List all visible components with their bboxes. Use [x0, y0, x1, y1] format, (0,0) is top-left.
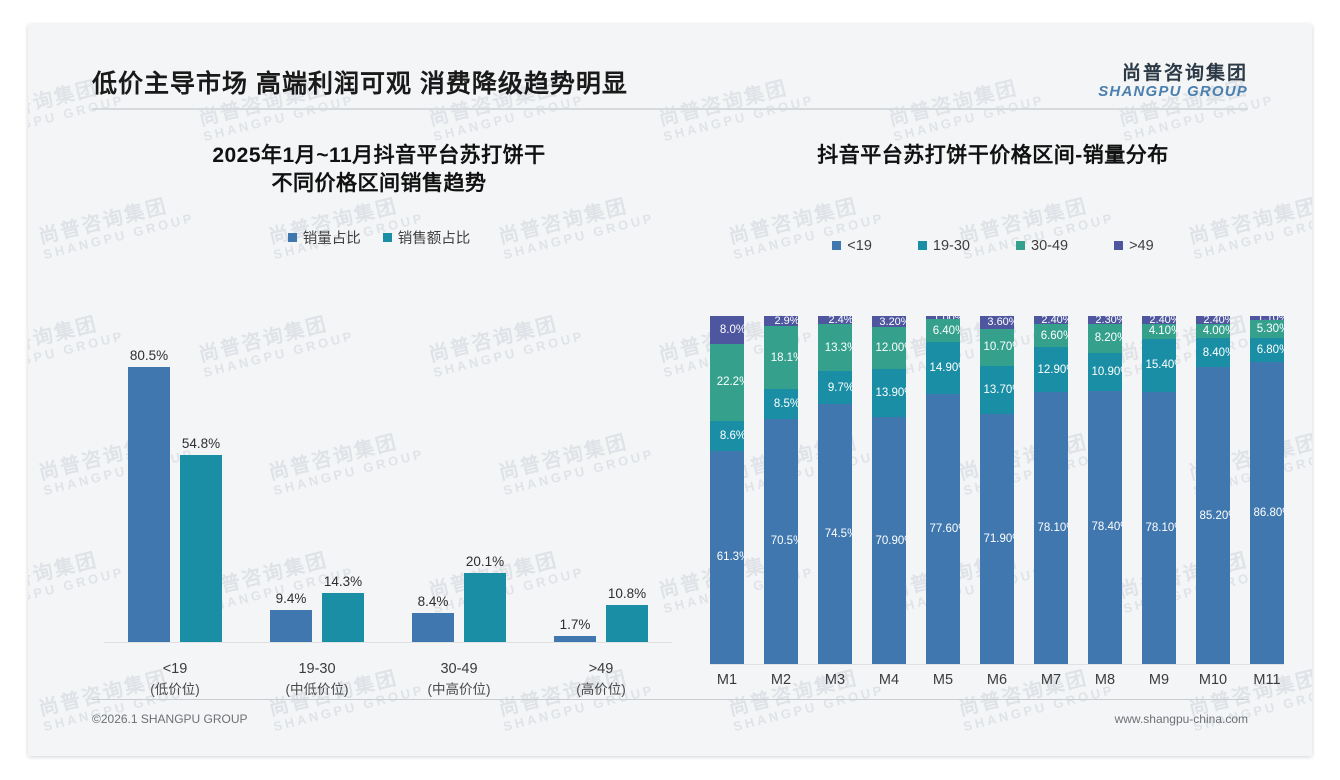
slide-canvas: 尚普咨询集团SHANGPU GROUP尚普咨询集团SHANGPU GROUP尚普…	[28, 24, 1312, 756]
stacked-bar-segment[interactable]: 13.70%	[980, 366, 1014, 414]
segment-value-label: 2.4%	[828, 316, 852, 324]
x-axis-tick-label: >49(高价位)	[526, 658, 676, 701]
right-legend-item[interactable]: 30-49	[1016, 238, 1068, 254]
right-chart-plot-area: 8.0%22.2%8.6%61.3%2.9%18.1%8.5%70.5%2.4%…	[710, 316, 1284, 664]
bar-value-label: 80.5%	[130, 348, 168, 363]
stacked-bar-segment[interactable]: 3.60%	[980, 316, 1014, 329]
segment-value-label: 61.3%	[717, 551, 744, 563]
right-chart-panel: 抖音平台苏打饼干价格区间-销量分布 <1919-3030-49>49 8.0%2…	[688, 120, 1298, 690]
legend-label: <19	[847, 238, 872, 254]
right-legend-item[interactable]: <19	[832, 238, 872, 254]
legend-label: 30-49	[1031, 238, 1068, 254]
segment-value-label: 12.00%	[876, 342, 907, 354]
x-axis-tick-label: 30-49(中高价位)	[384, 658, 534, 701]
right-legend-item[interactable]: >49	[1114, 238, 1154, 254]
logo-english-text: SHANGPU GROUP	[1098, 84, 1248, 100]
x-axis-tick-label: M10	[1196, 672, 1230, 696]
stacked-bar[interactable]: 1.00%6.40%14.90%77.60%	[926, 316, 960, 664]
stacked-bar-segment[interactable]: 2.30%	[1088, 316, 1122, 324]
stacked-bar-segment[interactable]: 12.90%	[1034, 347, 1068, 392]
segment-value-label: 6.80%	[1257, 344, 1284, 356]
stacked-bar-segment[interactable]: 78.10%	[1142, 392, 1176, 664]
slide-header: 低价主导市场 高端利润可观 消费降级趋势明显 尚普咨询集团 SHANGPU GR…	[28, 24, 1312, 110]
legend-swatch-icon	[918, 241, 927, 250]
segment-value-label: 14.90%	[930, 362, 961, 374]
segment-value-label: 8.40%	[1203, 347, 1230, 359]
segment-value-label: 13.70%	[984, 384, 1015, 396]
right-chart-x-axis-labels: M1M2M3M4M5M6M7M8M9M10M11	[710, 672, 1284, 696]
stacked-bar-segment[interactable]: 2.4%	[818, 316, 852, 324]
bar-fill	[464, 573, 506, 642]
legend-label: >49	[1129, 238, 1154, 254]
x-axis-tick-label: M6	[980, 672, 1014, 696]
stacked-bar-segment[interactable]: 18.1%	[764, 326, 798, 389]
stacked-bar-segment[interactable]: 2.40%	[1196, 316, 1230, 324]
segment-value-label: 13.90%	[876, 387, 907, 399]
segment-value-label: 13.3%	[825, 342, 852, 354]
segment-value-label: 8.5%	[774, 398, 798, 410]
segment-value-label: 2.40%	[1149, 316, 1176, 324]
stacked-bar[interactable]: 2.40%4.10%15.40%78.10%	[1142, 316, 1176, 664]
segment-value-label: 3.60%	[987, 316, 1014, 328]
x-axis-tick-main: >49	[589, 661, 614, 677]
segment-value-label: 3.20%	[879, 316, 906, 327]
segment-value-label: 2.9%	[774, 316, 798, 326]
left-chart-x-axis-labels: <19(低价位)19-30(中低价位)30-49(中高价位)>49(高价位)	[104, 650, 672, 710]
bar-value-label: 10.8%	[608, 586, 646, 601]
x-axis-tick-main: 30-49	[440, 661, 477, 677]
footer-website[interactable]: www.shangpu-china.com	[1115, 712, 1248, 726]
x-axis-tick-main: <19	[163, 661, 188, 677]
segment-value-label: 18.1%	[771, 352, 798, 364]
bar-value-label: 54.8%	[182, 436, 220, 451]
footer-copyright: ©2026.1 SHANGPU GROUP	[92, 712, 248, 726]
legend-label: 销量占比	[303, 227, 361, 248]
bar-fill	[606, 605, 648, 642]
stacked-bar-segment[interactable]: 22.2%	[710, 344, 744, 421]
stacked-bar[interactable]: 8.0%22.2%8.6%61.3%	[710, 316, 744, 664]
segment-value-label: 85.20%	[1200, 510, 1231, 522]
stacked-bar-segment[interactable]: 8.20%	[1088, 324, 1122, 353]
bar-revenue[interactable]: 14.3%	[322, 593, 364, 642]
legend-swatch-icon	[383, 233, 392, 242]
right-chart-legend: <1919-3030-49>49	[688, 238, 1298, 254]
stacked-bar-segment[interactable]: 10.70%	[980, 329, 1014, 366]
stacked-bar-segment[interactable]: 12.00%	[872, 327, 906, 369]
x-axis-tick-label: 19-30(中低价位)	[242, 658, 392, 701]
bar-revenue[interactable]: 54.8%	[180, 455, 222, 642]
segment-value-label: 71.90%	[984, 533, 1015, 545]
right-legend-item[interactable]: 19-30	[918, 238, 970, 254]
segment-value-label: 15.40%	[1146, 359, 1177, 371]
bar-fill	[412, 613, 454, 642]
stacked-bar-segment[interactable]: 2.40%	[1034, 316, 1068, 324]
brand-logo: 尚普咨询集团 SHANGPU GROUP	[1098, 64, 1248, 100]
bar-volume[interactable]: 80.5%	[128, 367, 170, 642]
left-legend-item[interactable]: 销售额占比	[383, 227, 471, 248]
stacked-bar[interactable]: 2.40%4.00%8.40%85.20%	[1196, 316, 1230, 664]
stacked-bar-segment[interactable]: 6.40%	[926, 319, 960, 341]
stacked-bar-segment[interactable]: 74.5%	[818, 404, 852, 664]
segment-value-label: 6.40%	[933, 325, 960, 337]
stacked-bar-segment[interactable]: 85.20%	[1196, 367, 1230, 663]
segment-value-label: 70.90%	[876, 535, 907, 547]
segment-value-label: 2.40%	[1203, 316, 1230, 324]
stacked-bar[interactable]: 2.9%18.1%8.5%70.5%	[764, 316, 798, 664]
legend-swatch-icon	[288, 233, 297, 242]
segment-value-label: 5.30%	[1257, 323, 1284, 335]
stacked-bar-segment[interactable]: 13.90%	[872, 369, 906, 417]
bar-fill	[270, 610, 312, 642]
segment-value-label: 10.90%	[1092, 366, 1123, 378]
segment-value-label: 12.90%	[1038, 364, 1069, 376]
bar-group: 80.5%54.8%	[112, 352, 238, 642]
stacked-bar-segment[interactable]: 10.90%	[1088, 353, 1122, 391]
legend-swatch-icon	[1016, 241, 1025, 250]
stacked-bar[interactable]: 2.30%8.20%10.90%78.40%	[1088, 316, 1122, 664]
header-divider	[92, 108, 1248, 110]
stacked-bar-segment[interactable]: 5.30%	[1250, 320, 1284, 338]
stacked-bar-segment[interactable]: 6.80%	[1250, 338, 1284, 362]
stacked-bar-segment[interactable]: 2.9%	[764, 316, 798, 326]
right-chart-title-text: 抖音平台苏打饼干价格区间-销量分布	[688, 142, 1298, 170]
x-axis-tick-label: M3	[818, 672, 852, 696]
bar-fill	[180, 455, 222, 642]
bar-value-label: 1.7%	[560, 617, 591, 632]
right-chart-title: 抖音平台苏打饼干价格区间-销量分布	[688, 120, 1298, 170]
segment-value-label: 78.10%	[1146, 522, 1177, 534]
stacked-bar[interactable]: 3.20%12.00%13.90%70.90%	[872, 316, 906, 664]
left-chart-plot-area: 80.5%54.8%9.4%14.3%8.4%20.1%1.7%10.8%	[104, 352, 672, 642]
bar-value-label: 20.1%	[466, 554, 504, 569]
bar-revenue[interactable]: 10.8%	[606, 605, 648, 642]
left-chart-legend: 销量占比销售额占比	[74, 227, 684, 248]
stacked-bar-segment[interactable]: 2.40%	[1142, 316, 1176, 324]
segment-value-label: 8.20%	[1095, 332, 1122, 344]
segment-value-label: 86.80%	[1254, 507, 1285, 519]
stacked-bar-segment[interactable]: 13.3%	[818, 324, 852, 370]
page-title: 低价主导市场 高端利润可观 消费降级趋势明显	[92, 64, 628, 100]
segment-value-label: 70.5%	[771, 535, 798, 547]
segment-value-label: 77.60%	[930, 523, 961, 535]
bar-group: 9.4%14.3%	[254, 352, 380, 642]
logo-chinese-text: 尚普咨询集团	[1098, 64, 1248, 84]
segment-value-label: 10.70%	[984, 341, 1015, 353]
stacked-bar-segment[interactable]: 78.40%	[1088, 391, 1122, 664]
stacked-bar[interactable]: 2.40%6.60%12.90%78.10%	[1034, 316, 1068, 664]
stacked-bar-segment[interactable]: 8.40%	[1196, 338, 1230, 367]
x-axis-tick-label: <19(低价位)	[100, 658, 250, 701]
legend-swatch-icon	[1114, 241, 1123, 250]
footer-divider	[92, 699, 1248, 700]
left-chart-x-axis-line	[104, 642, 672, 643]
stacked-bar-segment[interactable]: 15.40%	[1142, 339, 1176, 393]
bar-revenue[interactable]: 20.1%	[464, 573, 506, 642]
segment-value-label: 22.2%	[717, 376, 744, 388]
stacked-bar-segment[interactable]: 6.60%	[1034, 324, 1068, 347]
stacked-bar-segment[interactable]: 8.0%	[710, 316, 744, 344]
bar-fill	[322, 593, 364, 642]
x-axis-tick-label: M5	[926, 672, 960, 696]
left-chart-title-line2: 不同价格区间销售趋势	[74, 170, 684, 198]
bar-value-label: 8.4%	[418, 594, 449, 609]
segment-value-label: 78.40%	[1092, 521, 1123, 533]
left-chart-title: 2025年1月~11月抖音平台苏打饼干 不同价格区间销售趋势	[74, 120, 684, 197]
stacked-bar[interactable]: 3.60%10.70%13.70%71.90%	[980, 316, 1014, 664]
x-axis-tick-label: M8	[1088, 672, 1122, 696]
stacked-bar-segment[interactable]: 8.6%	[710, 421, 744, 451]
segment-value-label: 74.5%	[825, 528, 852, 540]
bar-group: 1.7%10.8%	[538, 352, 664, 642]
left-legend-item[interactable]: 销量占比	[288, 227, 361, 248]
stacked-bar-segment[interactable]: 70.5%	[764, 419, 798, 664]
segment-value-label: 8.0%	[720, 324, 744, 336]
legend-swatch-icon	[832, 241, 841, 250]
bar-value-label: 9.4%	[276, 591, 307, 606]
stacked-bar-segment[interactable]: 4.00%	[1196, 324, 1230, 338]
left-chart-title-line1: 2025年1月~11月抖音平台苏打饼干	[74, 142, 684, 170]
stacked-bar-segment[interactable]: 70.90%	[872, 417, 906, 664]
segment-value-label: 4.10%	[1149, 325, 1176, 337]
bar-volume[interactable]: 9.4%	[270, 610, 312, 642]
stacked-bar-segment[interactable]: 8.5%	[764, 389, 798, 419]
segment-value-label: 2.30%	[1095, 316, 1122, 324]
stacked-bar-segment[interactable]: 78.10%	[1034, 392, 1068, 664]
right-chart-x-axis-line	[710, 664, 1284, 665]
legend-label: 销售额占比	[398, 227, 471, 248]
stacked-bar-segment[interactable]: 71.90%	[980, 414, 1014, 664]
stacked-bar-segment[interactable]: 4.10%	[1142, 324, 1176, 338]
stacked-bar-segment[interactable]: 77.60%	[926, 394, 960, 664]
x-axis-tick-label: M2	[764, 672, 798, 696]
legend-label: 19-30	[933, 238, 970, 254]
segment-value-label: 78.10%	[1038, 522, 1069, 534]
stacked-bar[interactable]: 2.4%13.3%9.7%74.5%	[818, 316, 852, 664]
x-axis-tick-label: M4	[872, 672, 906, 696]
x-axis-tick-label: M1	[710, 672, 744, 696]
stacked-bar-segment[interactable]: 9.7%	[818, 371, 852, 405]
segment-value-label: 8.6%	[720, 430, 744, 442]
segment-value-label: 2.40%	[1041, 316, 1068, 324]
x-axis-tick-label: M7	[1034, 672, 1068, 696]
x-axis-tick-main: 19-30	[298, 661, 335, 677]
segment-value-label: 6.60%	[1041, 330, 1068, 342]
stacked-bar[interactable]: 1.10%5.30%6.80%86.80%	[1250, 316, 1284, 664]
bar-group: 8.4%20.1%	[396, 352, 522, 642]
stacked-bar-segment[interactable]: 14.90%	[926, 342, 960, 394]
x-axis-tick-label: M9	[1142, 672, 1176, 696]
bar-fill	[128, 367, 170, 642]
bar-volume[interactable]: 8.4%	[412, 613, 454, 642]
bar-value-label: 14.3%	[324, 574, 362, 589]
stacked-bar-segment[interactable]: 86.80%	[1250, 362, 1284, 664]
left-chart-panel: 2025年1月~11月抖音平台苏打饼干 不同价格区间销售趋势 销量占比销售额占比…	[74, 120, 684, 690]
stacked-bar-segment[interactable]: 3.20%	[872, 316, 906, 327]
segment-value-label: 4.00%	[1203, 325, 1230, 337]
stacked-bar-segment[interactable]: 61.3%	[710, 451, 744, 664]
x-axis-tick-label: M11	[1250, 672, 1284, 696]
segment-value-label: 9.7%	[828, 382, 852, 394]
